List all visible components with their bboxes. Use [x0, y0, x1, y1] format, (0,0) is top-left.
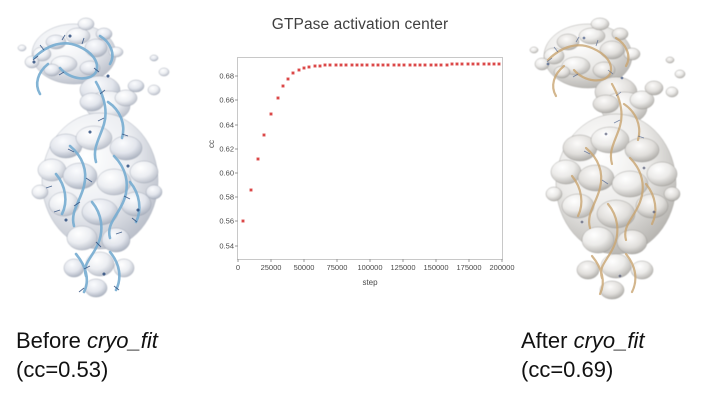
data-point — [355, 63, 358, 66]
y-tick-label: 0.66 — [219, 96, 234, 105]
chart-title: GTPase activation center — [205, 16, 515, 34]
data-point — [371, 63, 374, 66]
data-point — [413, 63, 416, 66]
y-tick-mark — [235, 173, 238, 174]
caption-before-prefix: Before — [16, 328, 87, 353]
data-point — [242, 219, 245, 222]
y-tick-label: 0.58 — [219, 193, 234, 202]
x-tick-label: 25000 — [261, 263, 282, 272]
data-point — [398, 63, 401, 66]
data-point — [493, 63, 496, 66]
y-tick-mark — [235, 245, 238, 246]
y-tick-mark — [235, 100, 238, 101]
data-point — [263, 133, 266, 136]
y-tick-mark — [235, 221, 238, 222]
data-point — [318, 64, 321, 67]
data-point — [287, 77, 290, 80]
plot-area: 0.540.560.580.600.620.640.660.6802500050… — [238, 58, 502, 259]
x-tick-label: 0 — [236, 263, 240, 272]
caption-after-value: (cc=0.69) — [521, 355, 645, 384]
x-tick-mark — [469, 259, 470, 262]
data-point — [250, 188, 253, 191]
y-tick-label: 0.68 — [219, 72, 234, 81]
density-blobs — [18, 18, 169, 297]
data-point — [466, 63, 469, 66]
y-tick-label: 0.62 — [219, 144, 234, 153]
structure-image-after — [516, 6, 716, 316]
x-tick-mark — [304, 259, 305, 262]
caption-before-italic: cryo_fit — [87, 328, 158, 353]
y-axis-label: cc — [207, 140, 216, 148]
data-point — [350, 63, 353, 66]
caption-after-prefix: After — [521, 328, 574, 353]
data-point — [429, 63, 432, 66]
data-point — [482, 63, 485, 66]
data-point — [408, 63, 411, 66]
data-point — [256, 157, 259, 160]
data-point — [366, 63, 369, 66]
data-point — [329, 64, 332, 67]
data-point — [308, 65, 311, 68]
data-point — [292, 72, 295, 75]
x-tick-mark — [436, 259, 437, 262]
cc-vs-step-chart: GTPase activation center cc 0.540.560.58… — [205, 8, 515, 303]
y-tick-label: 0.64 — [219, 120, 234, 129]
x-axis-label: step — [237, 278, 503, 287]
data-point — [324, 64, 327, 67]
y-tick-mark — [235, 124, 238, 125]
x-tick-mark — [403, 259, 404, 262]
caption-before-value: (cc=0.53) — [16, 355, 158, 384]
data-point — [440, 63, 443, 66]
y-tick-mark — [235, 197, 238, 198]
ribosome-density-before-svg — [4, 6, 204, 316]
data-point — [334, 64, 337, 67]
data-point — [498, 63, 501, 66]
x-tick-label: 75000 — [327, 263, 348, 272]
data-point — [450, 63, 453, 66]
data-point — [345, 63, 348, 66]
data-point — [361, 63, 364, 66]
data-point — [303, 66, 306, 69]
data-point — [270, 113, 273, 116]
x-tick-label: 175000 — [456, 263, 481, 272]
x-tick-mark — [271, 259, 272, 262]
data-point — [281, 85, 284, 88]
data-point — [339, 63, 342, 66]
data-point — [456, 63, 459, 66]
data-point — [487, 63, 490, 66]
data-point — [387, 63, 390, 66]
data-point — [424, 63, 427, 66]
data-point — [392, 63, 395, 66]
data-point — [382, 63, 385, 66]
x-tick-label: 50000 — [294, 263, 315, 272]
data-point — [313, 64, 316, 67]
structure-image-before — [4, 6, 204, 316]
x-tick-mark — [337, 259, 338, 262]
x-tick-label: 200000 — [489, 263, 514, 272]
caption-before: Before cryo_fit (cc=0.53) — [16, 326, 158, 384]
data-point — [435, 63, 438, 66]
data-point — [471, 63, 474, 66]
x-tick-label: 125000 — [390, 263, 415, 272]
data-point — [376, 63, 379, 66]
data-point — [445, 63, 448, 66]
y-tick-label: 0.60 — [219, 169, 234, 178]
ribosome-density-after-svg — [516, 6, 716, 316]
data-point — [477, 63, 480, 66]
x-tick-label: 100000 — [357, 263, 382, 272]
data-point — [276, 97, 279, 100]
caption-after: After cryo_fit (cc=0.69) — [521, 326, 645, 384]
data-point — [297, 68, 300, 71]
x-tick-mark — [370, 259, 371, 262]
data-point — [419, 63, 422, 66]
data-point — [461, 63, 464, 66]
y-tick-label: 0.54 — [219, 241, 234, 250]
y-tick-mark — [235, 148, 238, 149]
x-tick-label: 150000 — [423, 263, 448, 272]
caption-after-italic: cryo_fit — [574, 328, 645, 353]
plot-frame: 0.540.560.580.600.620.640.660.6802500050… — [237, 57, 503, 260]
y-tick-mark — [235, 76, 238, 77]
data-point — [403, 63, 406, 66]
x-tick-mark — [238, 259, 239, 262]
y-tick-label: 0.56 — [219, 217, 234, 226]
x-tick-mark — [502, 259, 503, 262]
